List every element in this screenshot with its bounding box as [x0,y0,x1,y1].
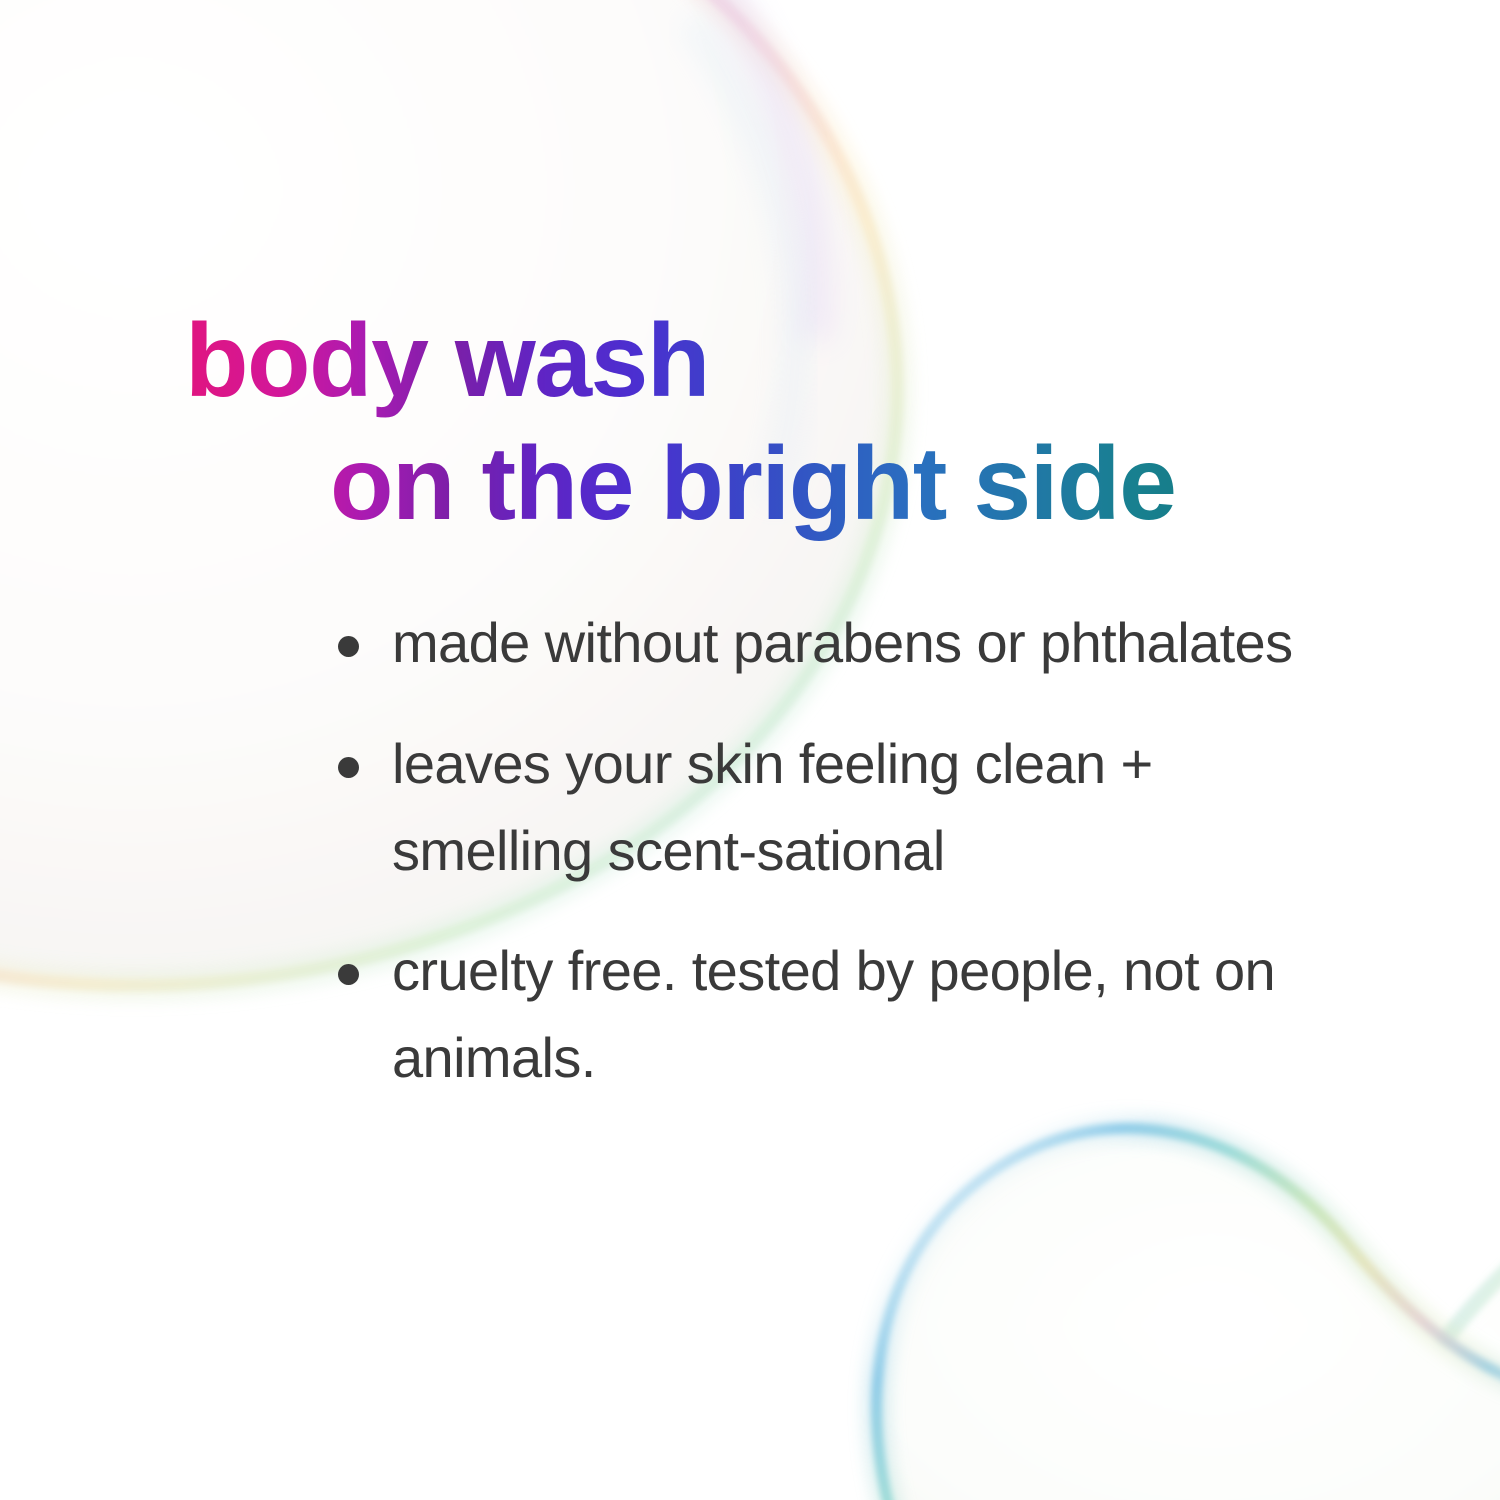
list-item-label: leaves your skin feeling clean + smellin… [392,721,1310,895]
list-item: leaves your skin feeling clean + smellin… [330,721,1310,895]
bullet-dot-icon [338,964,359,985]
page-title: body washon the bright side [185,300,1385,545]
list-item-label: made without parabens or phthalates [392,600,1310,687]
content-area: body washon the bright side made without… [0,0,1500,1500]
list-item-label: cruelty free. tested by people, not on a… [392,928,1310,1102]
feature-list: made without parabens or phthalates leav… [330,600,1310,1102]
bullet-dot-icon [338,636,359,657]
list-item: made without parabens or phthalates [330,600,1310,687]
headline-line-2: on the bright side [330,423,1385,546]
list-item: cruelty free. tested by people, not on a… [330,928,1310,1102]
product-feature-card: body washon the bright side made without… [0,0,1500,1500]
bullet-dot-icon [338,757,359,778]
headline-line-1: body wash [185,300,1385,423]
